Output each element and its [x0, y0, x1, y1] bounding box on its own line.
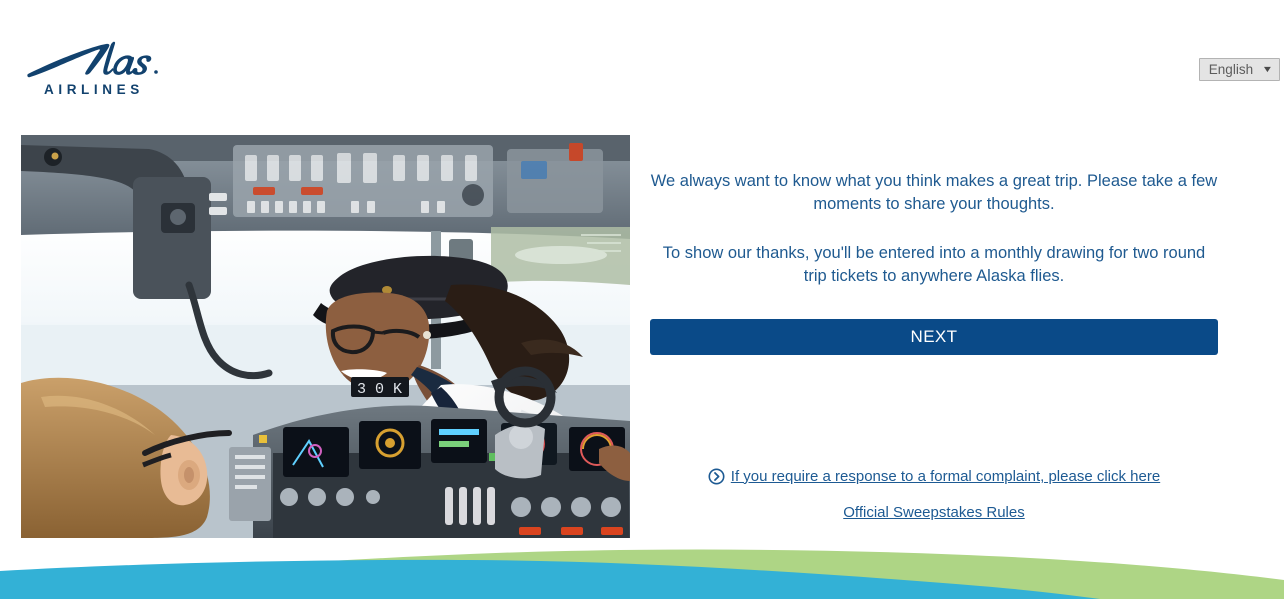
- next-button[interactable]: NEXT: [650, 319, 1218, 355]
- wave-teal-shape: [0, 560, 1100, 599]
- svg-text:3 0 K: 3 0 K: [357, 381, 402, 398]
- alaska-airlines-logo: AIRLINES: [22, 36, 162, 102]
- formal-complaint-link[interactable]: If you require a response to a formal co…: [731, 468, 1160, 485]
- footer-wave-decoration: [0, 533, 1284, 599]
- footer-links: If you require a response to a formal co…: [650, 468, 1218, 521]
- intro-paragraph-2: To show our thanks, you'll be entered in…: [650, 242, 1218, 289]
- sweepstakes-rules-link-row: Official Sweepstakes Rules: [650, 504, 1218, 521]
- formal-complaint-link-row: If you require a response to a formal co…: [650, 468, 1218, 485]
- official-sweepstakes-rules-link[interactable]: Official Sweepstakes Rules: [843, 504, 1024, 521]
- language-select[interactable]: English ▼: [1199, 58, 1280, 81]
- language-select-value: English: [1209, 63, 1253, 77]
- svg-text:AIRLINES: AIRLINES: [44, 82, 144, 97]
- intro-paragraph-1: We always want to know what you think ma…: [650, 170, 1218, 217]
- survey-intro-panel: We always want to know what you think ma…: [650, 135, 1218, 521]
- page-header: AIRLINES English ▼: [0, 0, 1284, 128]
- cockpit-hero-photo: 3 0 K: [21, 135, 630, 538]
- wave-green-shape: [0, 550, 1284, 599]
- chevron-right-circle-icon: [708, 468, 725, 485]
- survey-landing-page: AIRLINES English ▼: [0, 0, 1284, 599]
- chevron-down-icon: ▼: [1262, 65, 1274, 74]
